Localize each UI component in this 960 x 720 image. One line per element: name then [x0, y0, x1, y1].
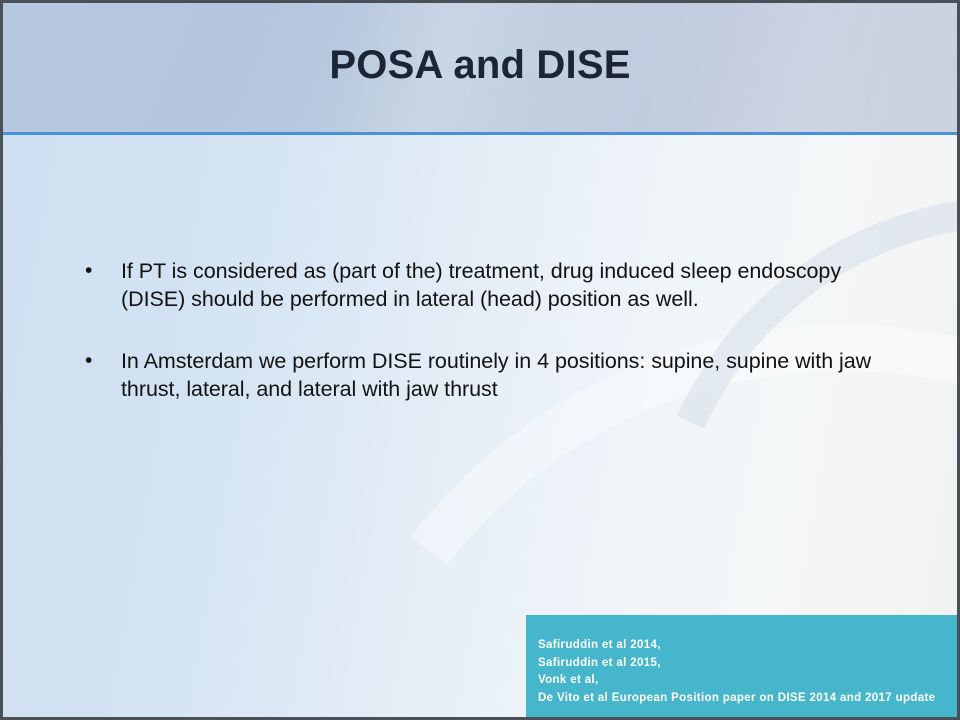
citation-line-1: Safiruddin et al 2014,: [538, 637, 960, 655]
slide-title: POSA and DISE: [3, 3, 957, 132]
bullet-text-2: In Amsterdam we perform DISE routinely i…: [121, 347, 881, 403]
list-item: • In Amsterdam we perform DISE routinely…: [81, 347, 881, 403]
citation-line-3: Vonk et al,: [538, 672, 960, 690]
citation-line-2: Safiruddin et al 2015,: [538, 655, 960, 673]
slide-canvas: POSA and DISE • If PT is considered as (…: [0, 0, 960, 720]
citation-line-4: De Vito et al European Position paper on…: [538, 690, 960, 708]
list-item: • If PT is considered as (part of the) t…: [81, 257, 881, 313]
bullet-marker-icon: •: [81, 347, 121, 375]
bullet-marker-icon: •: [81, 257, 121, 285]
bullet-list: • If PT is considered as (part of the) t…: [81, 257, 881, 403]
slide-header-band: POSA and DISE: [3, 3, 957, 132]
citation-box: Safiruddin et al 2014, Safiruddin et al …: [526, 615, 960, 720]
bullet-text-1: If PT is considered as (part of the) tre…: [121, 257, 881, 313]
